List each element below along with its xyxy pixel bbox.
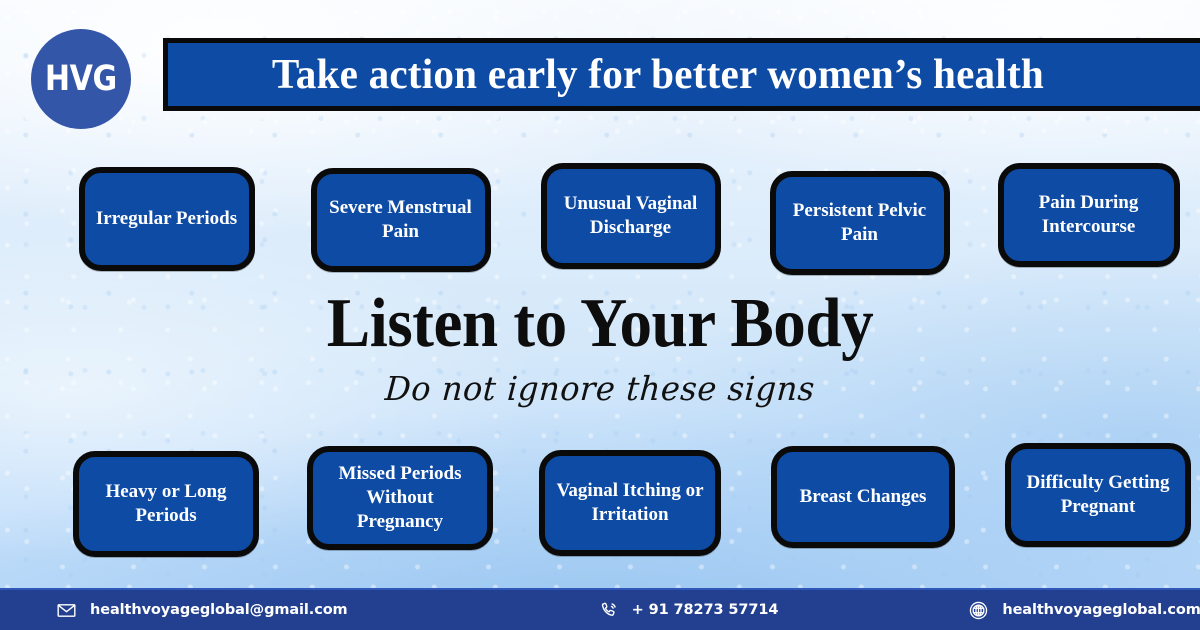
subheadline: Do not ignore these signs — [17, 371, 1183, 407]
symptom-card[interactable]: Unusual Vaginal Discharge — [541, 163, 721, 269]
symptom-card[interactable]: Irregular Periods — [79, 167, 255, 271]
symptom-card[interactable]: Heavy or Long Periods — [73, 451, 259, 557]
symptom-row-top: Irregular Periods Severe Menstrual Pain … — [0, 163, 1200, 275]
footer-email[interactable]: healthvoyageglobal@gmail.com — [56, 600, 348, 621]
phone-icon — [598, 600, 619, 621]
footer-phone[interactable]: + 91 78273 57714 — [598, 600, 779, 621]
symptom-row-bottom: Heavy or Long Periods Missed Periods Wit… — [0, 443, 1200, 557]
footer-email-text: healthvoyageglobal@gmail.com — [90, 602, 348, 618]
poster-canvas: HVG Take action early for better women’s… — [0, 0, 1200, 630]
page-title: Take action early for better women’s hea… — [272, 54, 1044, 96]
header-banner: Take action early for better women’s hea… — [163, 38, 1200, 111]
footer-phone-text: + 91 78273 57714 — [632, 602, 779, 618]
symptom-card[interactable]: Vaginal Itching or Irritation — [539, 450, 721, 556]
footer-website[interactable]: healthvoyageglobal.com — [968, 600, 1200, 621]
envelope-icon — [56, 600, 77, 621]
symptom-card[interactable]: Persistent Pelvic Pain — [770, 171, 950, 275]
footer-website-text: healthvoyageglobal.com — [1002, 602, 1200, 618]
symptom-card[interactable]: Difficulty Getting Pregnant — [1005, 443, 1191, 547]
footer-contact-bar: healthvoyageglobal@gmail.com + 91 78273 … — [0, 588, 1200, 630]
symptom-card[interactable]: Missed Periods Without Pregnancy — [307, 446, 493, 550]
symptom-card[interactable]: Pain During Intercourse — [998, 163, 1180, 267]
symptom-card[interactable]: Breast Changes — [771, 446, 955, 548]
brand-logo-badge: HVG — [31, 29, 131, 129]
symptom-card[interactable]: Severe Menstrual Pain — [311, 168, 491, 272]
globe-icon — [968, 600, 989, 621]
brand-logo-text: HVG — [45, 62, 117, 97]
headline: Listen to Your Body — [42, 288, 1158, 359]
center-message-block: Listen to Your Body Do not ignore these … — [0, 288, 1200, 408]
